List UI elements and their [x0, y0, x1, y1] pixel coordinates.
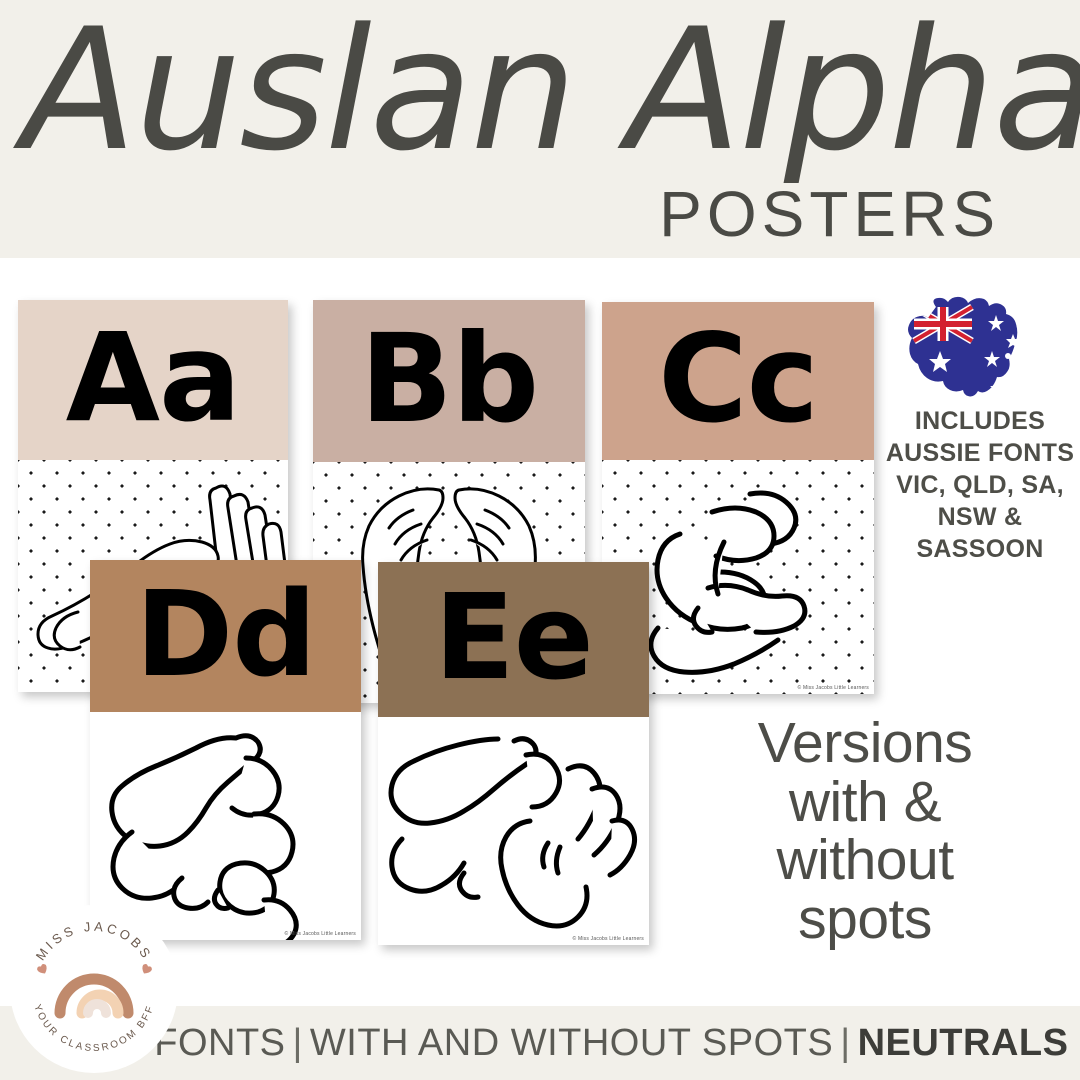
poster-card-d-copyright: © Miss Jacobs Little Learners — [285, 931, 356, 937]
poster-card-e[interactable]: Ee © Miss Jacobs Little Learners — [378, 562, 649, 945]
poster-card-c-copyright: © Miss Jacobs Little Learners — [798, 685, 869, 691]
includes-line-1: INCLUDES — [915, 407, 1045, 435]
rainbow-arc-icon: MISS JACOBS YOUR CLASSROOM BFF — [10, 905, 178, 1073]
versions-with-without-spots-text: Versions with & without spots — [700, 714, 1030, 949]
poster-card-b-header: Bb — [313, 300, 585, 462]
poster-card-c-header: Cc — [602, 302, 874, 460]
includes-fonts-text: INCLUDES AUSSIE FONTS VIC, QLD, SA, NSW … — [880, 405, 1080, 565]
poster-card-a-header: Aa — [18, 300, 288, 460]
poster-card-e-letter: Ee — [434, 583, 593, 692]
footer-separator-1: | — [293, 1022, 303, 1065]
poster-card-e-image: © Miss Jacobs Little Learners — [378, 717, 649, 945]
versions-line-1: Versions — [758, 711, 973, 775]
poster-card-c-letter: Cc — [658, 323, 818, 435]
footer-separator-2: | — [840, 1022, 850, 1065]
page-title: Auslan Alphabet — [22, 6, 1032, 174]
australia-flag-map-icon — [900, 293, 1040, 405]
versions-line-3: without — [776, 828, 953, 892]
versions-line-4: spots — [798, 887, 932, 951]
auslan-letter-e-hand-icon — [378, 717, 649, 945]
poster-card-a-letter: Aa — [66, 322, 241, 434]
includes-line-3: VIC, QLD, SA, — [896, 471, 1064, 499]
poster-preview-canvas: Auslan Alphabet POSTERS Aa © Miss Jacobs… — [0, 0, 1080, 1080]
poster-card-d[interactable]: Dd © Miss Jacobs Little Learners — [90, 560, 361, 940]
poster-card-e-header: Ee — [378, 562, 649, 717]
includes-line-2: AUSSIE FONTS — [886, 439, 1074, 467]
poster-card-e-copyright: © Miss Jacobs Little Learners — [573, 936, 644, 942]
versions-line-2: with & — [789, 770, 941, 834]
poster-card-b-letter: Bb — [360, 323, 538, 435]
includes-line-5: SASSOON — [916, 535, 1043, 563]
footer-theme-label: NEUTRALS — [858, 1022, 1069, 1065]
poster-card-d-header: Dd — [90, 560, 361, 712]
footer-spots-label: WITH AND WITHOUT SPOTS — [310, 1022, 833, 1065]
page-subtitle: POSTERS — [659, 182, 1000, 246]
includes-line-4: NSW & — [938, 503, 1023, 531]
poster-card-d-letter: Dd — [135, 580, 315, 689]
brand-logo-badge[interactable]: MISS JACOBS YOUR CLASSROOM BFF — [10, 905, 178, 1073]
